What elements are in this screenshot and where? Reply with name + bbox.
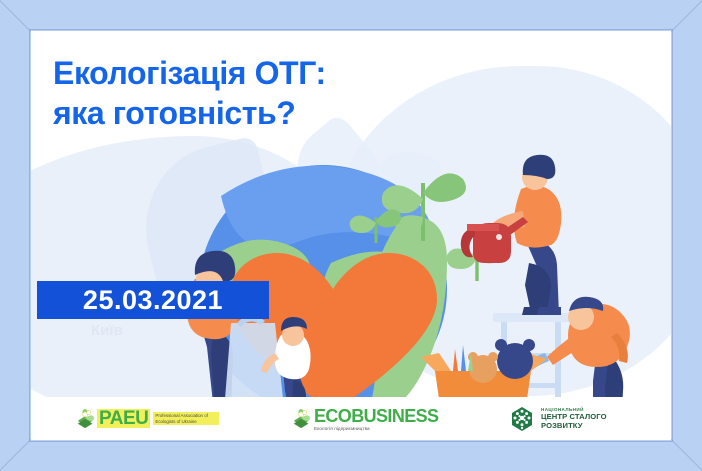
flower-leaf-icon	[75, 408, 97, 430]
logo-business-word: BUSINESS	[351, 406, 438, 427]
page-title: Екологізація ОТГ: яка готовність?	[53, 53, 483, 133]
date-badge: 25.03.2021	[37, 281, 269, 319]
footer-logo-bar: PAEU Professional Association of Ecologi…	[31, 397, 671, 440]
poster-frame: Екологізація ОТГ: яка готовність? 25.03.…	[0, 0, 702, 471]
logo-paeu: PAEU Professional Association of Ecologi…	[75, 408, 219, 430]
logo-ncsd-main: ЦЕНТР СТАЛОГО РОЗВИТКУ	[541, 412, 607, 431]
city-label: Київ	[91, 322, 123, 339]
flower-leaf-icon	[291, 408, 313, 430]
poster-canvas: Екологізація ОТГ: яка готовність? 25.03.…	[31, 31, 671, 440]
hexagon-emblem-icon	[509, 406, 535, 432]
logo-eco-subtitle: Екологія підприємництва	[314, 426, 438, 431]
logo-ncsd: НАЦІОНАЛЬНИЙ ЦЕНТР СТАЛОГО РОЗВИТКУ	[509, 406, 607, 432]
logo-paeu-word: PAEU	[97, 409, 150, 429]
logo-ecobusiness: ECO BUSINESS Екологія підприємництва	[291, 406, 438, 431]
logo-eco-word: ECO	[314, 406, 351, 427]
date-text: 25.03.2021	[83, 285, 223, 316]
logo-paeu-subtitle: Professional Association of Ecologists o…	[153, 412, 219, 426]
